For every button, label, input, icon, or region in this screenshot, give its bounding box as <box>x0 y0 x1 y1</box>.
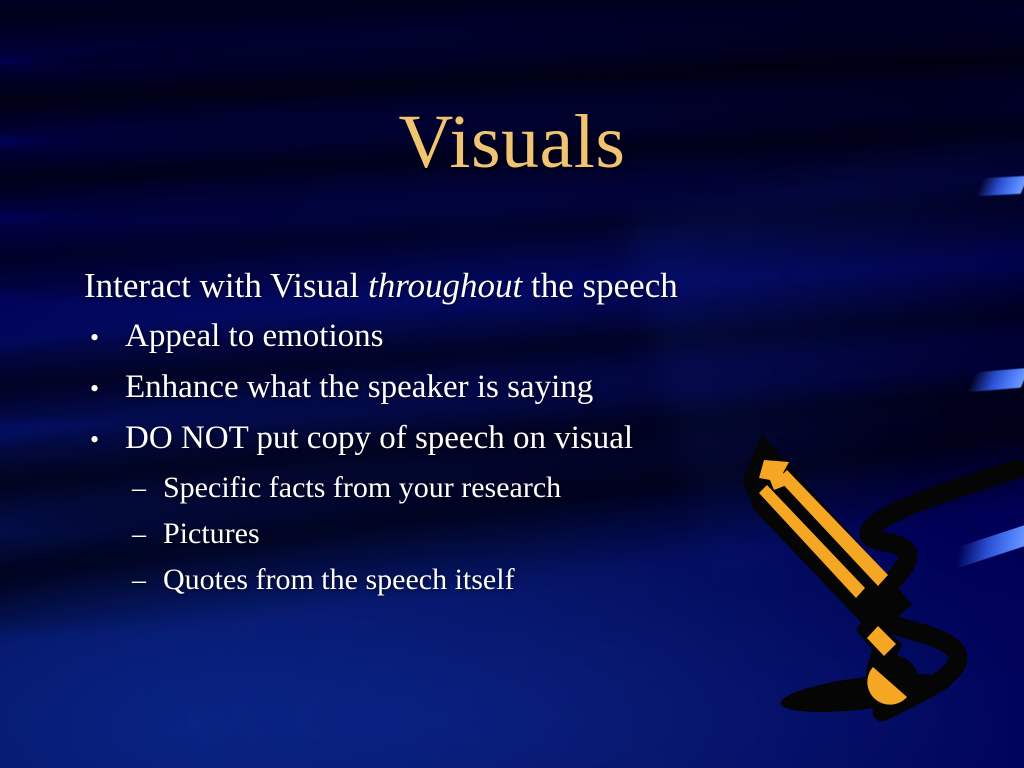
dash-marker-icon: – <box>132 521 163 549</box>
sub-bullet-item: – Quotes from the speech itself <box>84 565 944 595</box>
sub-bullet-item: – Specific facts from your research <box>84 473 944 503</box>
sub-bullet-label: Quotes from the speech itself <box>163 565 515 595</box>
slide-body: Interact with Visual throughout the spee… <box>84 268 944 611</box>
bullet-marker-icon: • <box>84 376 125 402</box>
bullet-item: • DO NOT put copy of speech on visual <box>84 422 944 455</box>
bullet-item: • Appeal to emotions <box>84 320 944 353</box>
lead-text-before: Interact with Visual <box>84 266 368 305</box>
dash-marker-icon: – <box>132 567 163 595</box>
bullet-label: Enhance what the speaker is saying <box>125 371 593 404</box>
bullet-label: Appeal to emotions <box>125 320 383 353</box>
dash-marker-icon: – <box>132 475 163 503</box>
bullet-marker-icon: • <box>84 427 125 453</box>
sub-bullet-label: Specific facts from your research <box>163 473 561 503</box>
bullet-marker-icon: • <box>84 325 125 351</box>
sub-bullet-label: Pictures <box>163 519 260 549</box>
lead-text-emphasis: throughout <box>368 266 522 305</box>
bullet-label: DO NOT put copy of speech on visual <box>125 422 633 455</box>
slide-title: Visuals <box>0 104 1024 180</box>
presentation-slide: Visuals Interact with Visual throughout … <box>0 0 1024 768</box>
lead-text-after: the speech <box>522 266 677 305</box>
sub-bullet-item: – Pictures <box>84 519 944 549</box>
lead-line: Interact with Visual throughout the spee… <box>84 268 944 303</box>
bullet-item: • Enhance what the speaker is saying <box>84 371 944 404</box>
